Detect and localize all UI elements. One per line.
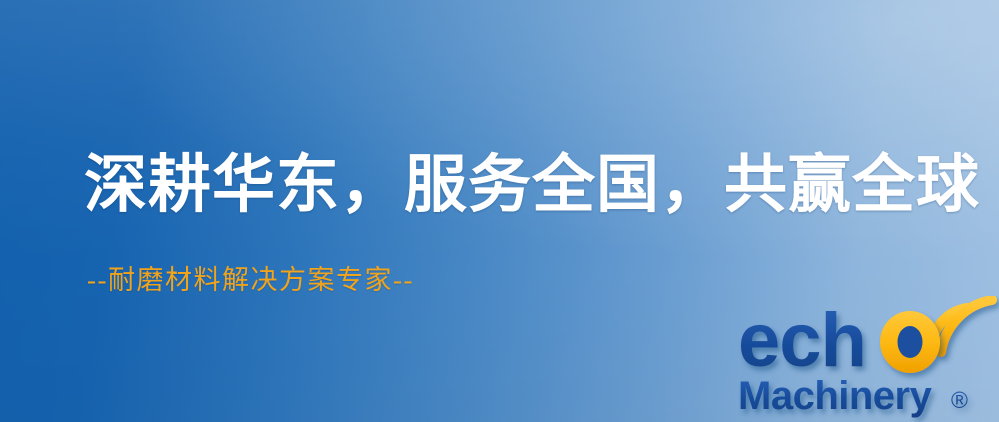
- echo-machinery-logo[interactable]: ech Machinery ®: [736, 296, 999, 422]
- logo-tagline: Machinery ®: [738, 374, 968, 418]
- svg-text:ech: ech: [738, 298, 866, 383]
- banner-subtitle: --耐磨材料解决方案专家--: [87, 264, 414, 296]
- logo-wordmark-ech: ech: [738, 298, 866, 383]
- logo-accent-o: [880, 311, 940, 373]
- hero-banner: 深耕华东，服务全国，共赢全球 --耐磨材料解决方案专家--: [0, 0, 999, 422]
- wave-arcs-icon: [932, 300, 992, 352]
- svg-text:®: ®: [951, 387, 968, 413]
- banner-headline: 深耕华东，服务全国，共赢全球: [84, 152, 980, 218]
- svg-text:Machinery: Machinery: [738, 374, 933, 418]
